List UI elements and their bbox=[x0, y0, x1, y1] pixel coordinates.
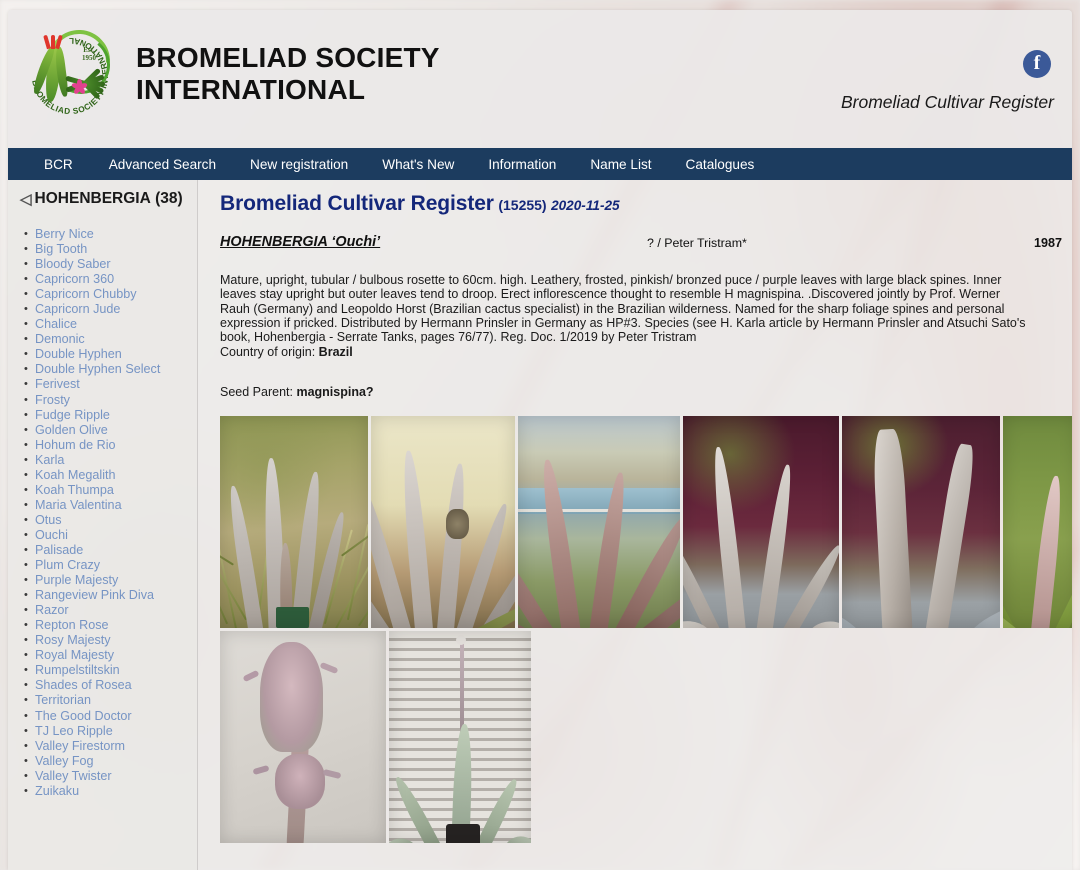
cultivar-list-item-label[interactable]: Koah Megalith bbox=[35, 468, 116, 482]
cultivar-list-item-label[interactable]: Karla bbox=[35, 453, 64, 467]
gallery-row-1 bbox=[220, 416, 1056, 628]
bract-lower-right bbox=[322, 769, 341, 779]
header-right-block: f Bromeliad Cultivar Register bbox=[841, 50, 1054, 113]
photo-thumbnail[interactable] bbox=[220, 631, 386, 843]
sidebar-genus-label: HOHENBERGIA bbox=[35, 190, 151, 208]
cultivar-list-item[interactable]: Valley Firestorm bbox=[35, 739, 197, 754]
back-triangle-icon[interactable]: ◁ bbox=[20, 192, 32, 207]
bract-lower-left bbox=[253, 765, 270, 775]
plant-leaves bbox=[389, 631, 531, 843]
cultivar-list-item[interactable]: Razor bbox=[35, 603, 197, 618]
register-date: 2020-11-25 bbox=[551, 198, 620, 213]
cultivar-list-item-label[interactable]: Repton Rose bbox=[35, 618, 109, 632]
cultivar-list-item[interactable]: Valley Fog bbox=[35, 754, 197, 769]
cultivar-list-item-label[interactable]: Demonic bbox=[35, 332, 85, 346]
cultivar-list-item[interactable]: Purple Majesty bbox=[35, 573, 197, 588]
seal-established-text: Est. 1950 bbox=[72, 46, 106, 62]
cultivar-list-item-label[interactable]: Chalice bbox=[35, 317, 77, 331]
inflorescence bbox=[220, 631, 386, 843]
site-header: BROMELIAD SOCIETY INTERNATIONAL Est. 195… bbox=[8, 10, 1072, 148]
cultivar-list-item-label[interactable]: Fudge Ripple bbox=[35, 408, 110, 422]
brand-block[interactable]: BROMELIAD SOCIETY INTERNATIONAL Est. 195… bbox=[22, 26, 440, 122]
description-text: Mature, upright, tubular / bulbous roset… bbox=[220, 273, 1026, 344]
page-container: BROMELIAD SOCIETY INTERNATIONAL Est. 195… bbox=[8, 10, 1072, 870]
facebook-icon[interactable]: f bbox=[1023, 50, 1051, 78]
stalk-tip bbox=[456, 635, 466, 645]
plant-leaves bbox=[1003, 416, 1072, 628]
seed-parent-value: magnispina? bbox=[296, 385, 373, 399]
seal-est-label: Est. bbox=[83, 46, 94, 54]
seal-est-year: 1950 bbox=[82, 54, 96, 62]
cultivar-list-item[interactable]: TJ Leo Ripple bbox=[35, 724, 197, 739]
photo-gallery bbox=[220, 416, 1056, 843]
photo-thumbnail[interactable] bbox=[683, 416, 839, 628]
cultivar-list-item-label[interactable]: Zuikaku bbox=[35, 784, 79, 798]
cultivar-list-item-label[interactable]: Otus bbox=[35, 513, 62, 527]
country-of-origin-label: Country of origin: bbox=[220, 345, 319, 359]
cultivar-list-item[interactable]: Karla bbox=[35, 453, 197, 468]
cultivar-list-item-label[interactable]: Maria Valentina bbox=[35, 498, 122, 512]
register-title-line: Bromeliad Cultivar Register (15255) 2020… bbox=[220, 192, 1072, 216]
cultivar-list-item-label[interactable]: TJ Leo Ripple bbox=[35, 724, 113, 738]
seal-red-bracts-icon bbox=[45, 34, 62, 49]
cultivar-list-item[interactable]: Palisade bbox=[35, 543, 197, 558]
photo-thumbnail[interactable] bbox=[389, 631, 531, 843]
seal-pink-flower-icon bbox=[72, 78, 87, 93]
brand-title-line-1: BROMELIAD SOCIETY bbox=[136, 42, 440, 74]
flower-stalk bbox=[460, 640, 464, 733]
cultivar-list-item-label[interactable]: Koah Thumpa bbox=[35, 483, 114, 497]
bract-left bbox=[243, 670, 260, 682]
cultivar-list-item[interactable]: Rosy Majesty bbox=[35, 633, 197, 648]
brand-title: BROMELIAD SOCIETY INTERNATIONAL bbox=[136, 42, 440, 107]
cultivar-list-item-label[interactable]: Razor bbox=[35, 603, 69, 617]
cultivar-list-item[interactable]: Capricorn Chubby bbox=[35, 287, 197, 302]
brand-title-line-2: INTERNATIONAL bbox=[136, 74, 440, 106]
cultivar-list-item-label[interactable]: Palisade bbox=[35, 543, 83, 557]
cultivar-list-item[interactable]: Territorian bbox=[35, 693, 197, 708]
cultivar-list-item-label[interactable]: Purple Majesty bbox=[35, 573, 118, 587]
photo-thumbnail[interactable] bbox=[842, 416, 1000, 628]
sidebar-header[interactable]: ◁ HOHENBERGIA (38) bbox=[8, 190, 197, 208]
cultivar-list-item[interactable]: Frosty bbox=[35, 393, 197, 408]
plant-leaves bbox=[371, 416, 515, 628]
upper-spike bbox=[260, 642, 323, 752]
seed-parent-label: Seed Parent: bbox=[220, 385, 296, 399]
cultivar-list-item[interactable]: Valley Twister bbox=[35, 769, 197, 784]
nav-item-bcr[interactable]: BCR bbox=[44, 157, 73, 172]
lower-spike bbox=[275, 754, 325, 809]
photo-thumbnail[interactable] bbox=[371, 416, 515, 628]
cultivar-list-item[interactable]: Repton Rose bbox=[35, 618, 197, 633]
country-of-origin: Country of origin: Brazil bbox=[220, 345, 1032, 359]
nav-item-catalogues[interactable]: Catalogues bbox=[686, 157, 755, 172]
cultivar-list-item[interactable]: Koah Megalith bbox=[35, 468, 197, 483]
cultivar-list-item-label[interactable]: Berry Nice bbox=[35, 227, 94, 241]
cultivar-breeder: ? / Peter Tristram* bbox=[647, 236, 747, 250]
cultivar-list-item[interactable]: Shades of Rosea bbox=[35, 678, 197, 693]
cultivar-list-item[interactable]: Ferivest bbox=[35, 377, 197, 392]
cultivar-list-item-label[interactable]: Royal Majesty bbox=[35, 648, 114, 662]
photo-thumbnail[interactable] bbox=[1003, 416, 1072, 628]
cultivar-list-item[interactable]: Fudge Ripple bbox=[35, 408, 197, 423]
cultivar-heading-row: HOHENBERGIA ‘Ouchi’ ? / Peter Tristram* … bbox=[220, 234, 1072, 254]
cultivar-list-item-label[interactable]: Valley Firestorm bbox=[35, 739, 125, 753]
nav-item-name-list[interactable]: Name List bbox=[590, 157, 651, 172]
cultivar-year: 1987 bbox=[1034, 236, 1062, 250]
page-title: Bromeliad Cultivar Register bbox=[220, 192, 494, 215]
cultivar-list-item[interactable]: The Good Doctor bbox=[35, 709, 197, 724]
cultivar-list-item-label[interactable]: Double Hyphen Select bbox=[35, 362, 160, 376]
gallery-row-2 bbox=[220, 631, 1056, 843]
cultivar-list-item-label[interactable]: Valley Twister bbox=[35, 769, 112, 783]
sidebar-genus-count: (38) bbox=[155, 190, 183, 208]
country-of-origin-value: Brazil bbox=[319, 345, 353, 359]
cultivar-list-item[interactable]: Capricorn Jude bbox=[35, 302, 197, 317]
seed-parent-row: Seed Parent: magnispina? bbox=[220, 385, 1072, 399]
cultivar-list-item-label[interactable]: Valley Fog bbox=[35, 754, 94, 768]
cultivar-list-item[interactable]: Maria Valentina bbox=[35, 498, 197, 513]
plant-leaves bbox=[518, 416, 680, 628]
cultivar-list-item[interactable]: Capricorn 360 bbox=[35, 272, 197, 287]
cultivar-list-item[interactable]: Demonic bbox=[35, 332, 197, 347]
bract-right bbox=[319, 662, 338, 674]
cultivar-list-item[interactable]: Hohum de Rio bbox=[35, 438, 197, 453]
cultivar-list-item-label[interactable]: The Good Doctor bbox=[35, 709, 132, 723]
cultivar-list-item-label[interactable]: Ferivest bbox=[35, 377, 80, 391]
nav-item-advanced-search[interactable]: Advanced Search bbox=[109, 157, 216, 172]
nav-item-new-registration[interactable]: New registration bbox=[250, 157, 348, 172]
bsi-circular-seal-logo[interactable]: BROMELIAD SOCIETY INTERNATIONAL Est. 195… bbox=[22, 26, 118, 122]
cultivar-list-item-label[interactable]: Hohum de Rio bbox=[35, 438, 116, 452]
cultivar-list-item[interactable]: Golden Olive bbox=[35, 423, 197, 438]
pot bbox=[276, 607, 309, 628]
cultivar-list-item-label[interactable]: Rosy Majesty bbox=[35, 633, 111, 647]
cultivar-list-item-label[interactable]: Rangeview Pink Diva bbox=[35, 588, 154, 602]
cultivar-list-item-label[interactable]: Rumpelstiltskin bbox=[35, 663, 120, 677]
plant-leaves bbox=[842, 416, 1000, 628]
cultivar-list-item-label[interactable]: Capricorn Chubby bbox=[35, 287, 137, 301]
nav-item-information[interactable]: Information bbox=[488, 157, 556, 172]
cultivar-list-item[interactable]: Otus bbox=[35, 513, 197, 528]
cultivar-list-item[interactable]: Plum Crazy bbox=[35, 558, 197, 573]
cultivar-list-item-label[interactable]: Double Hyphen bbox=[35, 347, 122, 361]
plant-leaves bbox=[683, 416, 839, 628]
cultivar-list-item[interactable]: Rumpelstiltskin bbox=[35, 663, 197, 678]
cultivar-list-item-label[interactable]: Big Tooth bbox=[35, 242, 87, 256]
cultivar-list: Berry NiceBig ToothBloody SaberCapricorn… bbox=[8, 227, 197, 799]
register-record-count: (15255) bbox=[498, 197, 546, 213]
cultivar-list-item-label[interactable]: Capricorn 360 bbox=[35, 272, 114, 286]
cultivar-list-item-label[interactable]: Ouchi bbox=[35, 528, 68, 542]
cultivar-list-item[interactable]: Zuikaku bbox=[35, 784, 197, 799]
cultivar-list-item-label[interactable]: Capricorn Jude bbox=[35, 302, 120, 316]
genus-sidebar: ◁ HOHENBERGIA (38) Berry NiceBig ToothBl… bbox=[8, 180, 198, 870]
pot bbox=[446, 824, 480, 843]
cultivar-list-item-label[interactable]: Frosty bbox=[35, 393, 70, 407]
cultivar-list-item-label[interactable]: Bloody Saber bbox=[35, 257, 111, 271]
cultivar-list-item[interactable]: Ouchi bbox=[35, 528, 197, 543]
spent-cone bbox=[446, 509, 469, 539]
main-navigation[interactable]: BCR Advanced Search New registration Wha… bbox=[8, 148, 1072, 180]
plant-leaves bbox=[220, 416, 368, 628]
cultivar-list-item[interactable]: Berry Nice bbox=[35, 227, 197, 242]
cultivar-list-item[interactable]: Koah Thumpa bbox=[35, 483, 197, 498]
cultivar-list-item[interactable]: Bloody Saber bbox=[35, 257, 197, 272]
cultivar-list-item[interactable]: Rangeview Pink Diva bbox=[35, 588, 197, 603]
main-content: Bromeliad Cultivar Register (15255) 2020… bbox=[198, 180, 1072, 870]
nav-item-whats-new[interactable]: What's New bbox=[382, 157, 454, 172]
cultivar-description: Mature, upright, tubular / bulbous roset… bbox=[220, 273, 1032, 359]
cultivar-list-item-label[interactable]: Shades of Rosea bbox=[35, 678, 132, 692]
cultivar-name[interactable]: HOHENBERGIA ‘Ouchi’ bbox=[220, 234, 380, 250]
cultivar-list-item[interactable]: Double Hyphen bbox=[35, 347, 197, 362]
cultivar-list-item-label[interactable]: Plum Crazy bbox=[35, 558, 100, 572]
photo-thumbnail[interactable] bbox=[220, 416, 368, 628]
page-body: ◁ HOHENBERGIA (38) Berry NiceBig ToothBl… bbox=[8, 180, 1072, 870]
cultivar-list-item[interactable]: Big Tooth bbox=[35, 242, 197, 257]
header-tagline: Bromeliad Cultivar Register bbox=[841, 92, 1054, 113]
cultivar-list-item[interactable]: Chalice bbox=[35, 317, 197, 332]
cultivar-list-item-label[interactable]: Territorian bbox=[35, 693, 91, 707]
cultivar-list-item[interactable]: Double Hyphen Select bbox=[35, 362, 197, 377]
cultivar-list-item-label[interactable]: Golden Olive bbox=[35, 423, 108, 437]
cultivar-list-item[interactable]: Royal Majesty bbox=[35, 648, 197, 663]
photo-thumbnail[interactable] bbox=[518, 416, 680, 628]
